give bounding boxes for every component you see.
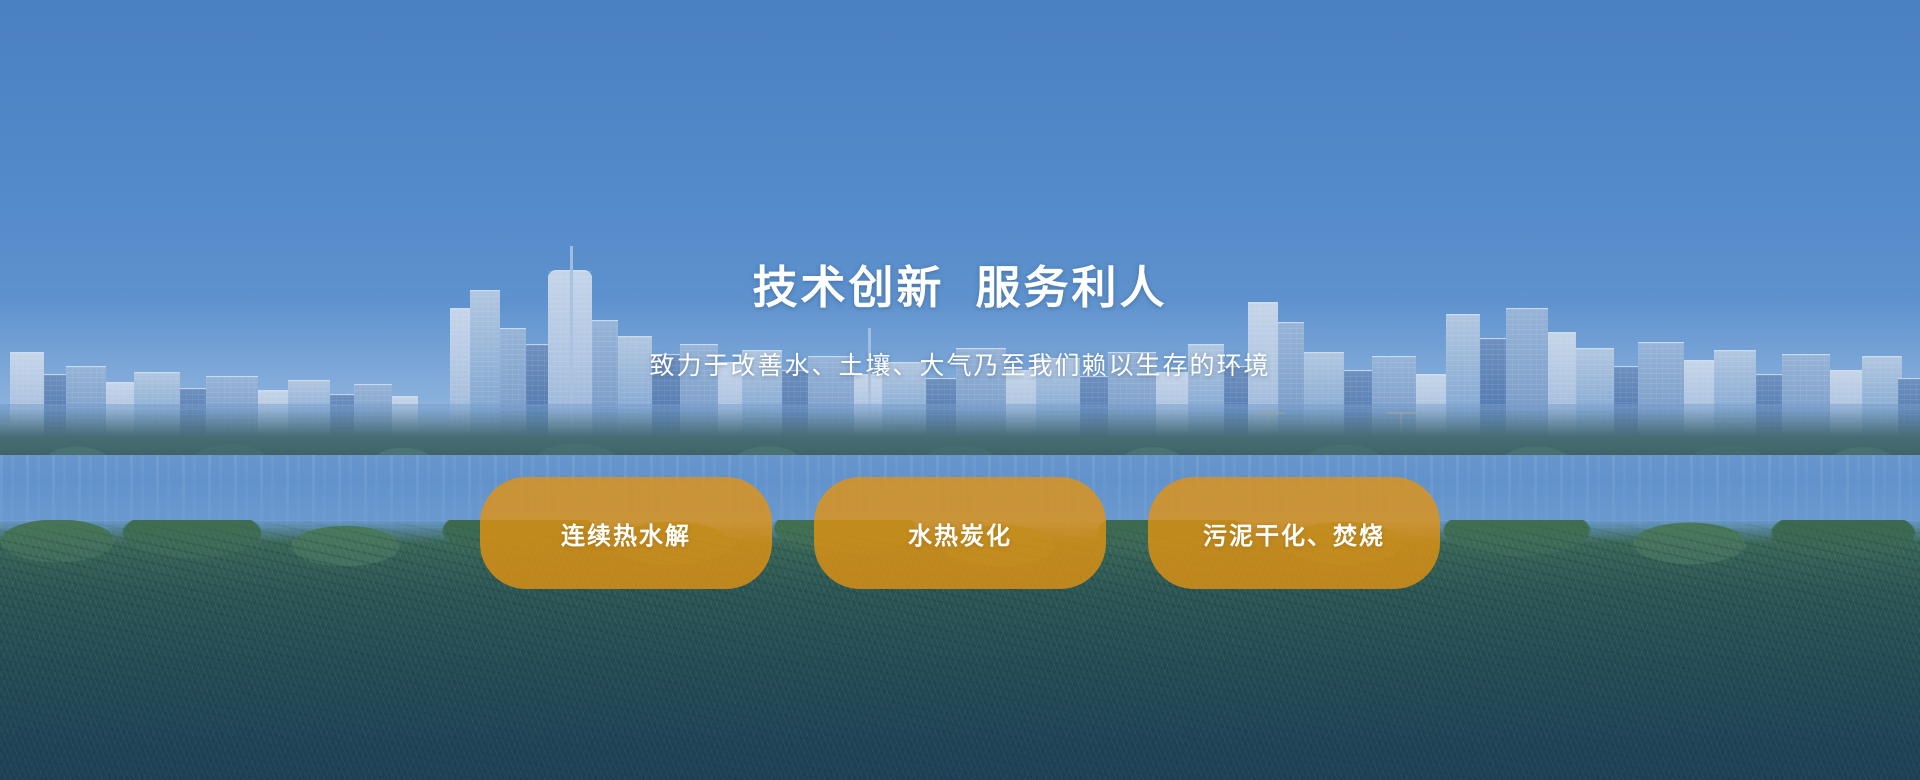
hero-subheadline: 致力于改善水、土壤、大气乃至我们赖以生存的环境 [0,350,1920,383]
service-button-continuous-thermal-hydrolysis[interactable]: 连续热水解 [480,477,772,589]
service-button-hydrothermal-carbonization[interactable]: 水热炭化 [814,477,1106,589]
service-button-group: 连续热水解 水热炭化 污泥干化、焚烧 [0,477,1920,589]
hero-banner: 技术创新 服务利人 致力于改善水、土壤、大气乃至我们赖以生存的环境 连续热水解 … [0,0,1920,780]
hero-headline: 技术创新 服务利人 [0,262,1920,314]
hero-content: 技术创新 服务利人 致力于改善水、土壤、大气乃至我们赖以生存的环境 连续热水解 … [0,0,1920,780]
service-button-sludge-drying-incineration[interactable]: 污泥干化、焚烧 [1148,477,1440,589]
